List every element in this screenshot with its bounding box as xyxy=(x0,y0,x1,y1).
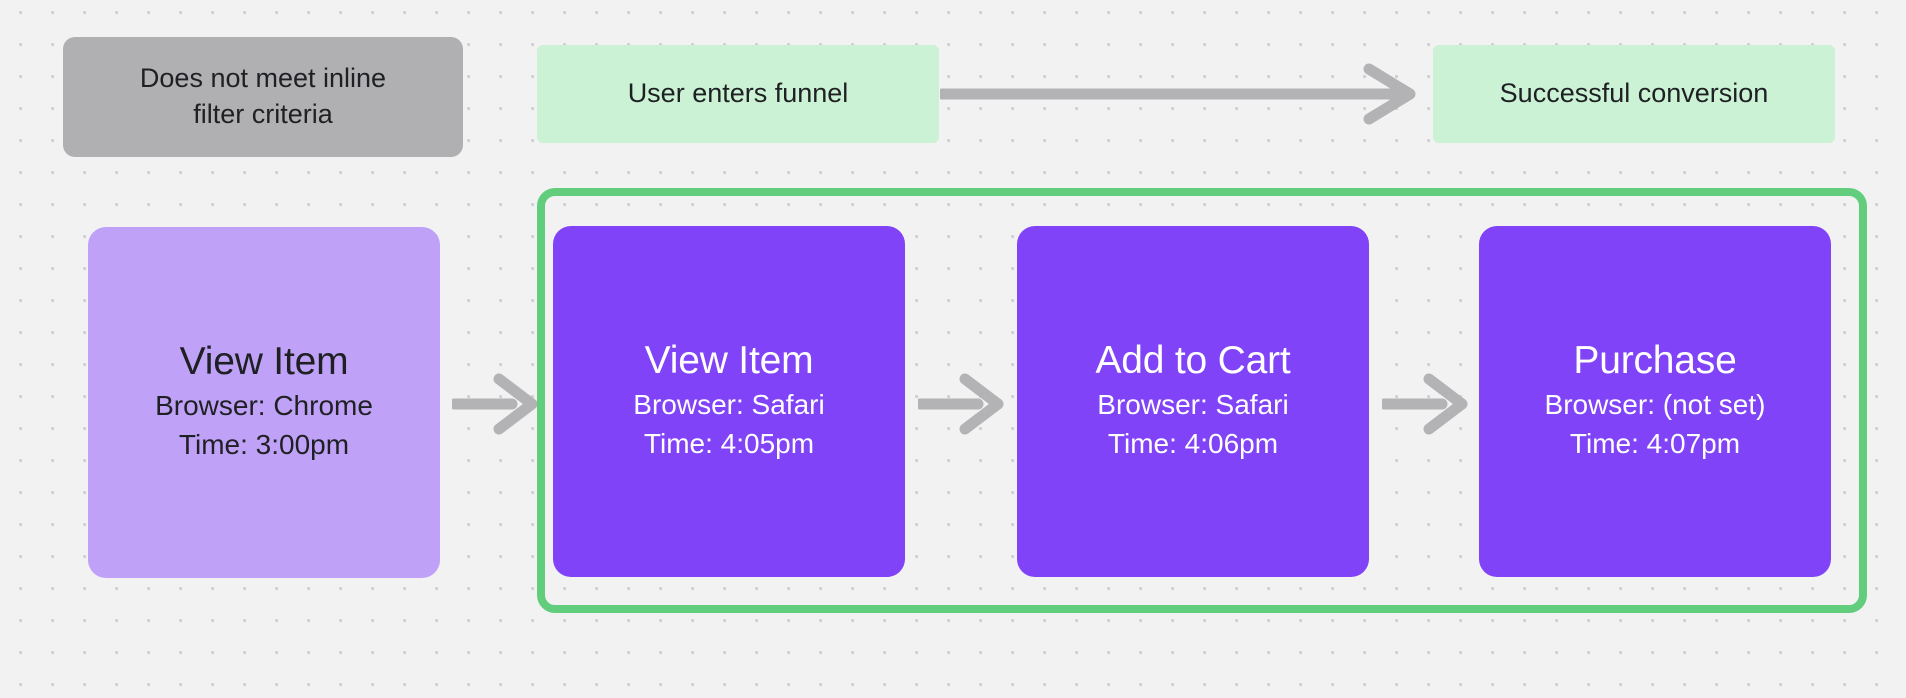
diagram-canvas: Does not meet inline filter criteria Use… xyxy=(0,0,1906,698)
annotation-conversion-label: Successful conversion xyxy=(1500,76,1769,112)
step-arrow-3 xyxy=(1382,372,1472,436)
event-card-title: View Item xyxy=(180,340,349,384)
event-card-title: View Item xyxy=(645,339,814,383)
annotation-excluded-note: Does not meet inline filter criteria xyxy=(63,37,463,157)
event-card-browser: Browser: Safari xyxy=(1097,385,1288,425)
annotation-funnel-entry-note: User enters funnel xyxy=(537,45,939,143)
note-connector-arrow xyxy=(940,62,1430,126)
event-card-title: Purchase xyxy=(1573,339,1736,383)
event-card-browser: Browser: (not set) xyxy=(1545,385,1766,425)
event-card-title: Add to Cart xyxy=(1095,339,1290,383)
annotation-funnel-entry-label: User enters funnel xyxy=(628,76,849,112)
event-card-time: Time: 4:05pm xyxy=(644,424,814,464)
event-card-view-item-chrome[interactable]: View Item Browser: Chrome Time: 3:00pm xyxy=(88,227,440,578)
event-card-browser: Browser: Safari xyxy=(633,385,824,425)
event-card-time: Time: 4:07pm xyxy=(1570,424,1740,464)
event-card-browser: Browser: Chrome xyxy=(155,386,373,426)
event-card-view-item-safari[interactable]: View Item Browser: Safari Time: 4:05pm xyxy=(553,226,905,577)
event-card-add-to-cart-safari[interactable]: Add to Cart Browser: Safari Time: 4:06pm xyxy=(1017,226,1369,577)
event-card-time: Time: 3:00pm xyxy=(179,425,349,465)
step-arrow-1 xyxy=(452,372,542,436)
annotation-excluded-line-1: Does not meet inline xyxy=(140,61,386,97)
event-card-time: Time: 4:06pm xyxy=(1108,424,1278,464)
annotation-excluded-line-2: filter criteria xyxy=(193,97,333,133)
annotation-conversion-note: Successful conversion xyxy=(1433,45,1835,143)
event-card-purchase-notset[interactable]: Purchase Browser: (not set) Time: 4:07pm xyxy=(1479,226,1831,577)
step-arrow-2 xyxy=(918,372,1008,436)
